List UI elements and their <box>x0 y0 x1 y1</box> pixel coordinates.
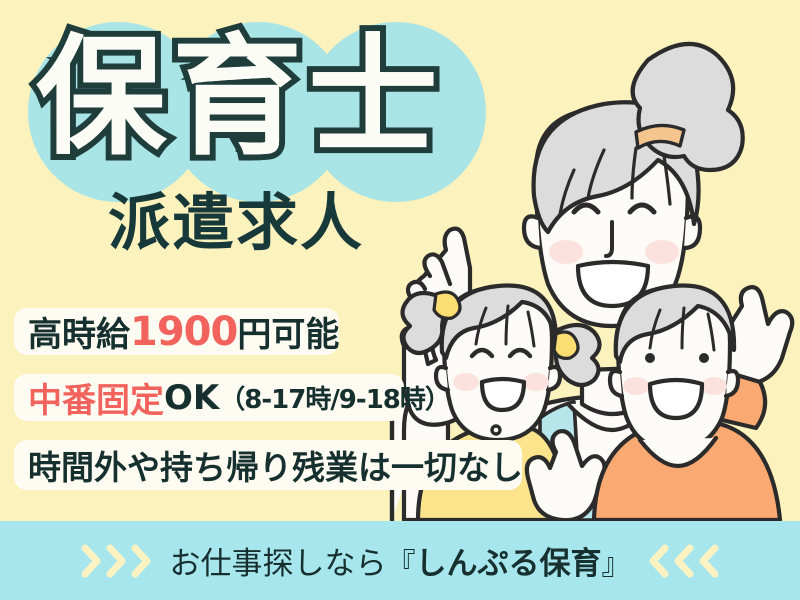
banner-brand-name: しんぷる保育 <box>416 546 602 582</box>
feature-pill-shift-fixed: 中番固定OK（8-17時/9-18時） <box>14 374 404 421</box>
page-title-fill: 保育士 <box>36 32 444 162</box>
chevron-right-icon <box>81 544 103 578</box>
chevron-left-icon <box>697 544 719 578</box>
chevron-right-group-icon <box>81 544 153 578</box>
chevron-right-icon <box>106 544 128 578</box>
poster-root: 保育士 保育士 派遣求人 高時給1900円可能 中番固定OK（8-17時/9-1… <box>0 0 800 600</box>
chevron-left-icon <box>672 544 694 578</box>
chevron-left-group-icon <box>647 544 719 578</box>
pill-text-shift: 中番固定 <box>28 373 164 422</box>
banner-open-quote: 『 <box>386 547 415 581</box>
pill-text-hours: （8-17時/9-18時） <box>219 379 450 416</box>
pill-text-prefix: 高時給 <box>28 307 130 356</box>
banner-lead-text: お仕事探しなら <box>169 546 386 582</box>
pill-text-amount: 1900 <box>130 309 237 355</box>
feature-pill-no-overtime: 時間外や持ち帰り残業は一切なし <box>14 440 522 490</box>
bottom-banner: お仕事探しなら『しんぷる保育』 <box>0 521 800 600</box>
pill-text-overtime: 時間外や持ち帰り残業は一切なし <box>28 441 523 489</box>
chevron-left-icon <box>647 544 669 578</box>
pill-text-ok: OK <box>164 378 219 418</box>
feature-pill-hourly-wage: 高時給1900円可能 <box>14 308 339 355</box>
page-subtitle: 派遣求人 <box>108 192 364 254</box>
chevron-right-icon <box>131 544 153 578</box>
banner-close-quote: 』 <box>602 547 631 581</box>
banner-tagline: お仕事探しなら『しんぷる保育』 <box>169 538 630 583</box>
pill-text-suffix: 円可能 <box>237 307 339 356</box>
